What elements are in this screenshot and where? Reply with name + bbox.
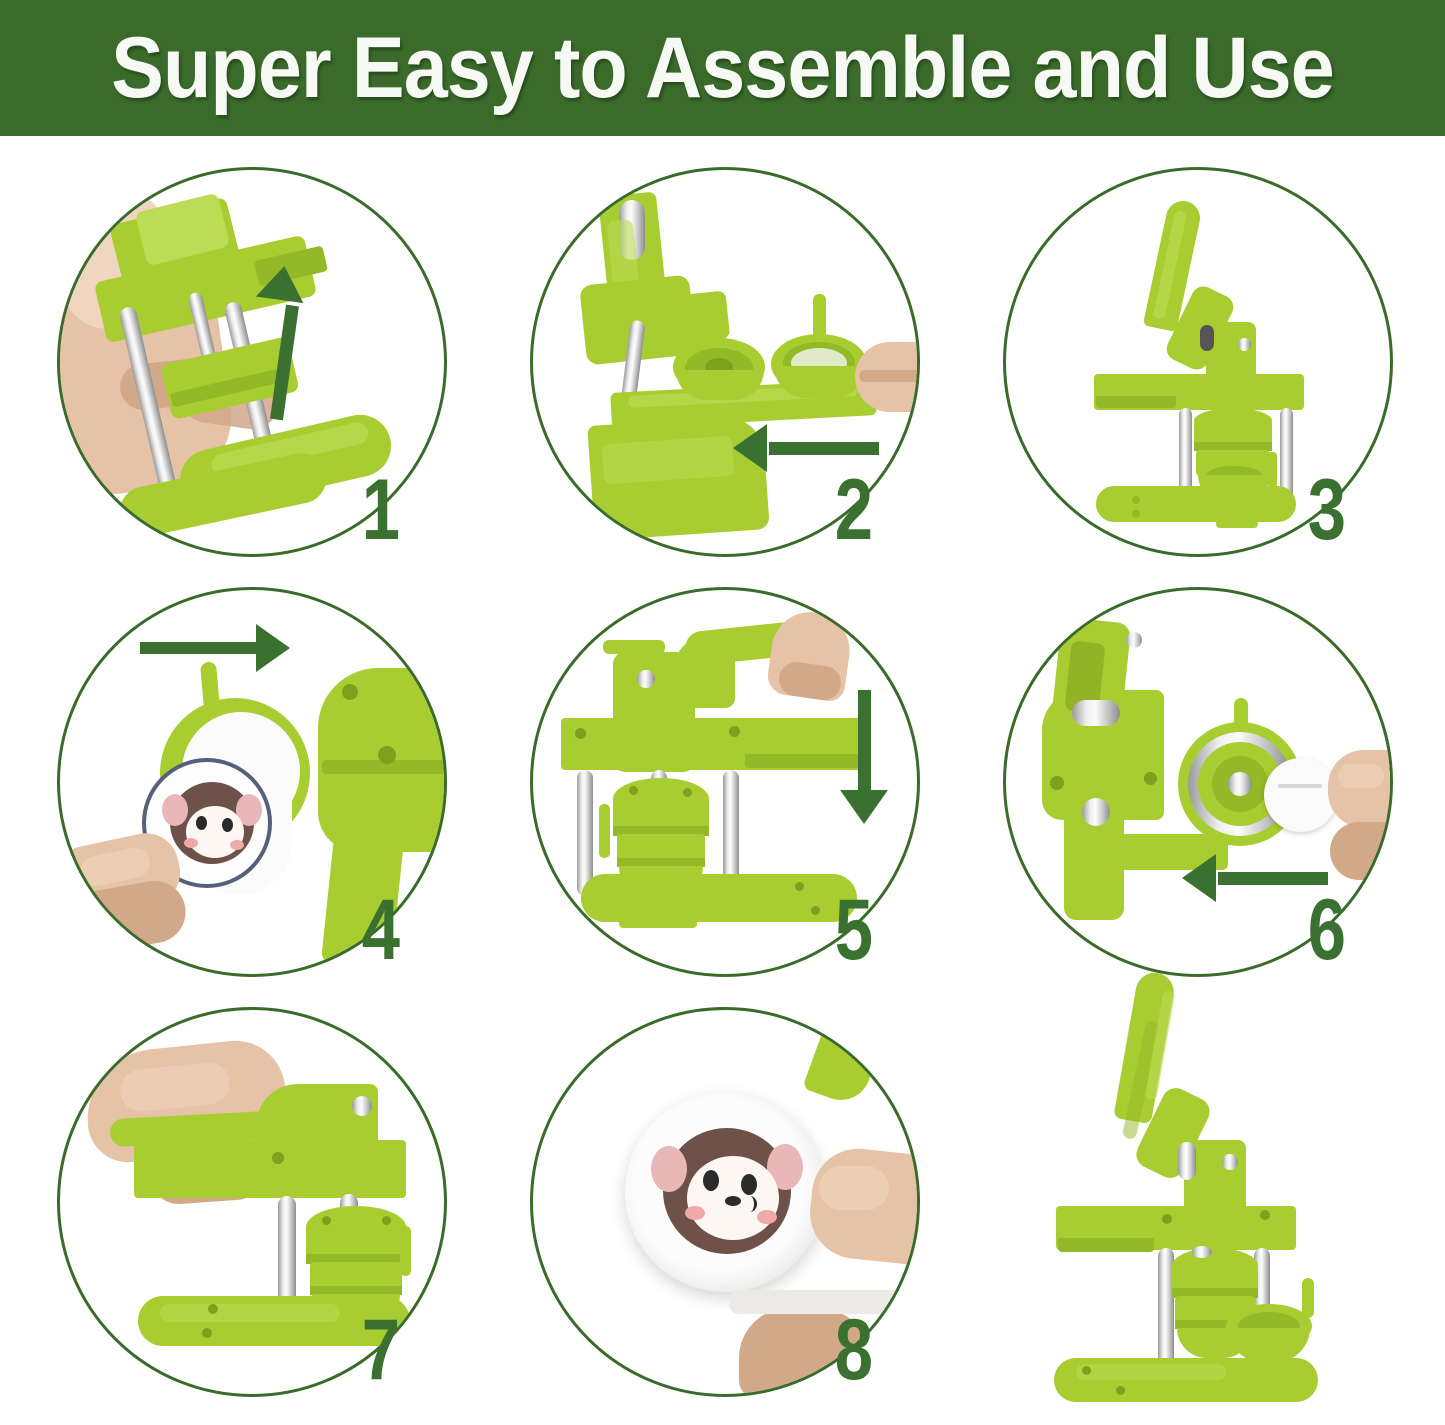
mold-screw bbox=[382, 1216, 391, 1225]
hand-finger bbox=[1330, 822, 1393, 880]
step-number-7: 7 bbox=[362, 1307, 400, 1393]
monkey-eye-right bbox=[741, 1174, 757, 1195]
mold-right-pin bbox=[813, 294, 826, 338]
mold-secondary-pin bbox=[1302, 1278, 1314, 1318]
crossbar-screw bbox=[1162, 1214, 1172, 1224]
step-number-1: 1 bbox=[362, 467, 400, 553]
step-panel-8: 8 bbox=[530, 1007, 920, 1397]
head-screw bbox=[637, 670, 655, 688]
base-plate bbox=[1096, 486, 1296, 522]
head-top-lip bbox=[603, 640, 665, 654]
base-screw bbox=[1132, 510, 1140, 518]
step-number-5: 5 bbox=[835, 887, 873, 973]
step-panel-1: 1 bbox=[57, 167, 447, 557]
step-panel-7: 7 bbox=[57, 1007, 447, 1397]
screw-hole bbox=[1050, 776, 1064, 790]
hand-finger-line bbox=[859, 370, 920, 382]
button-back-pin-slot bbox=[1278, 784, 1322, 788]
mold-center-screw bbox=[1228, 772, 1252, 796]
mold-secondary-body bbox=[1228, 1328, 1310, 1362]
base-screw bbox=[1116, 1386, 1125, 1395]
pivot-pin bbox=[1200, 325, 1214, 351]
step-panel-3: 3 bbox=[1003, 167, 1393, 557]
right-arrow-shaft bbox=[140, 642, 260, 654]
crossbar-screw bbox=[1260, 1210, 1270, 1220]
crossbar-screw bbox=[729, 726, 740, 737]
base-tab bbox=[619, 902, 697, 928]
pivot-screw bbox=[352, 1096, 372, 1116]
mold-pin bbox=[1234, 698, 1248, 732]
screw-hole bbox=[342, 684, 358, 700]
crossbar-screw bbox=[272, 1152, 284, 1164]
serrated-edge bbox=[1096, 396, 1176, 408]
left-arrow-head bbox=[1182, 854, 1216, 902]
base-screw bbox=[795, 882, 804, 891]
left-arrow-head bbox=[733, 424, 767, 472]
monkey-mouth bbox=[743, 1196, 757, 1212]
up-arrow-head bbox=[256, 263, 308, 303]
base-screw bbox=[1132, 496, 1140, 504]
step-number-6: 6 bbox=[1308, 887, 1346, 973]
base-highlight bbox=[1076, 1364, 1226, 1380]
hero-machine bbox=[1020, 960, 1440, 1420]
step-number-4: 4 bbox=[362, 887, 400, 973]
monkey-nose bbox=[725, 1196, 741, 1206]
screw-hole bbox=[378, 746, 396, 764]
right-arrow-head bbox=[256, 624, 290, 672]
screw-hole bbox=[1144, 772, 1157, 785]
monkey-eye-left bbox=[703, 1170, 719, 1191]
left-arrow-shaft bbox=[769, 442, 879, 455]
monkey-ear-left bbox=[651, 1146, 687, 1192]
mold-release-lever bbox=[599, 804, 610, 858]
header-banner: Super Easy to Assemble and Use bbox=[0, 0, 1445, 136]
column-screw bbox=[1082, 798, 1110, 826]
step-number-2: 2 bbox=[835, 467, 873, 553]
base-screw bbox=[1082, 1366, 1091, 1375]
base-highlight bbox=[160, 1304, 340, 1322]
mold-release-lever bbox=[1268, 452, 1277, 488]
step-panel-4: 4 bbox=[57, 587, 447, 977]
machine-column bbox=[1064, 740, 1124, 920]
crossbar-screw bbox=[575, 728, 586, 739]
base-tab bbox=[1216, 510, 1258, 528]
thumbnail-highlight bbox=[819, 1166, 889, 1210]
hand-paper-edge bbox=[729, 1290, 920, 1314]
monkey-ear-left bbox=[162, 794, 188, 826]
monkey-cheek-left bbox=[685, 1206, 705, 1220]
button-back-white bbox=[1264, 758, 1338, 832]
monkey-cheek-right bbox=[757, 1210, 777, 1224]
pivot-chrome bbox=[1072, 700, 1120, 726]
mold-pin bbox=[200, 661, 220, 710]
step-panel-2: 2 bbox=[530, 167, 920, 557]
page-title: Super Easy to Assemble and Use bbox=[111, 19, 1334, 118]
step-panel-5: 5 bbox=[530, 587, 920, 977]
mold-center-shaft bbox=[1192, 1246, 1212, 1258]
serrated-edge bbox=[1058, 1238, 1154, 1252]
base-screw bbox=[208, 1304, 218, 1314]
monkey-eye-right bbox=[222, 818, 233, 832]
mold-left-pin bbox=[713, 300, 726, 342]
finished-button-badge bbox=[625, 1092, 825, 1292]
down-arrow-shaft bbox=[858, 690, 871, 798]
step-panel-6: 6 bbox=[1003, 587, 1393, 977]
lever-screw bbox=[1126, 632, 1142, 648]
mold-screw bbox=[683, 788, 692, 797]
hand-highlight bbox=[1338, 764, 1384, 788]
step-number-8: 8 bbox=[835, 1307, 873, 1393]
monkey-eye-left bbox=[196, 816, 207, 830]
pivot-pin bbox=[1178, 1142, 1196, 1180]
step-number-3: 3 bbox=[1308, 467, 1346, 553]
machine-part-corner bbox=[802, 1030, 880, 1109]
base-screw bbox=[202, 1328, 212, 1338]
monkey-muzzle bbox=[186, 806, 244, 858]
mold-screw bbox=[629, 786, 638, 795]
hand-thumb bbox=[1328, 750, 1393, 828]
down-arrow-head bbox=[840, 790, 888, 824]
pivot-screw bbox=[1238, 338, 1251, 351]
monkey-cheek-left bbox=[184, 838, 198, 848]
mold-screw bbox=[322, 1216, 331, 1225]
crossbar bbox=[134, 1140, 406, 1198]
product-hero-shot bbox=[1020, 960, 1440, 1420]
monkey-cheek-right bbox=[230, 840, 244, 850]
mold-release-lever bbox=[400, 1226, 411, 1276]
serrated-edge bbox=[745, 754, 867, 768]
base-screw bbox=[811, 906, 820, 915]
pivot-screw bbox=[1222, 1154, 1238, 1170]
